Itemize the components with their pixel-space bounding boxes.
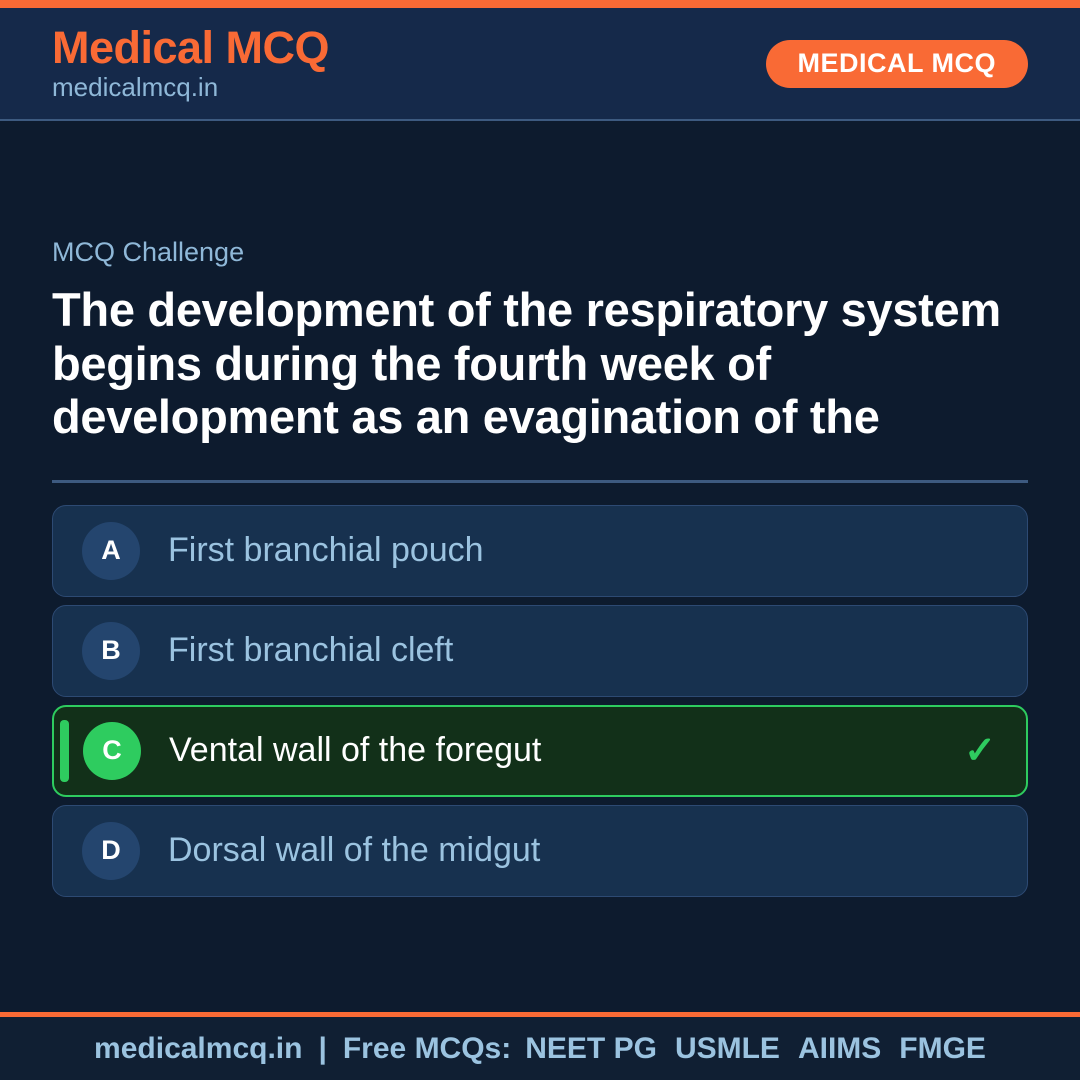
option-badge-d: D <box>82 822 140 880</box>
footer-site: medicalmcq.in <box>94 1034 302 1064</box>
top-accent-bar <box>0 0 1080 8</box>
option-badge-b: B <box>82 622 140 680</box>
brand: Medical MCQ medicalmcq.in <box>52 25 329 101</box>
option-label-d: Dorsal wall of the midgut <box>168 832 965 869</box>
brand-subtitle: medicalmcq.in <box>52 73 329 102</box>
footer-exam-usmle: USMLE <box>675 1034 780 1064</box>
brand-title: Medical MCQ <box>52 25 329 71</box>
footer-exam-neetpg: NEET PG <box>525 1034 657 1064</box>
correct-accent-bar <box>60 720 69 782</box>
footer-exam-fmge: FMGE <box>899 1034 986 1064</box>
question-divider <box>52 480 1028 483</box>
option-badge-c: C <box>83 722 141 780</box>
header-badge: MEDICAL MCQ <box>766 40 1029 88</box>
footer-exam-aiims: AIIMS <box>798 1034 881 1064</box>
option-badge-a: A <box>82 522 140 580</box>
option-label-c: Vental wall of the foregut <box>169 732 964 769</box>
option-label-b: First branchial cleft <box>168 632 965 669</box>
page-footer: medicalmcq.in | Free MCQs: NEET PG USMLE… <box>0 1012 1080 1080</box>
option-row-b[interactable]: B First branchial cleft ✓ <box>52 605 1028 697</box>
option-row-d[interactable]: D Dorsal wall of the midgut ✓ <box>52 805 1028 897</box>
page-header: Medical MCQ medicalmcq.in MEDICAL MCQ <box>0 8 1080 121</box>
options-list: A First branchial pouch ✓ B First branch… <box>52 505 1028 897</box>
question-text: The development of the respiratory syste… <box>52 283 1028 444</box>
check-icon: ✓ <box>964 732 996 770</box>
footer-exams: NEET PG USMLE AIIMS FMGE <box>525 1034 986 1064</box>
option-row-c[interactable]: C Vental wall of the foregut ✓ <box>52 705 1028 797</box>
mcq-card: Medical MCQ medicalmcq.in MEDICAL MCQ MC… <box>0 0 1080 1080</box>
footer-separator: | <box>302 1034 342 1064</box>
footer-exams-label: Free MCQs: <box>343 1034 511 1064</box>
main-content: MCQ Challenge The development of the res… <box>0 121 1080 1012</box>
option-label-a: First branchial pouch <box>168 532 965 569</box>
eyebrow-label: MCQ Challenge <box>52 239 1028 266</box>
option-row-a[interactable]: A First branchial pouch ✓ <box>52 505 1028 597</box>
